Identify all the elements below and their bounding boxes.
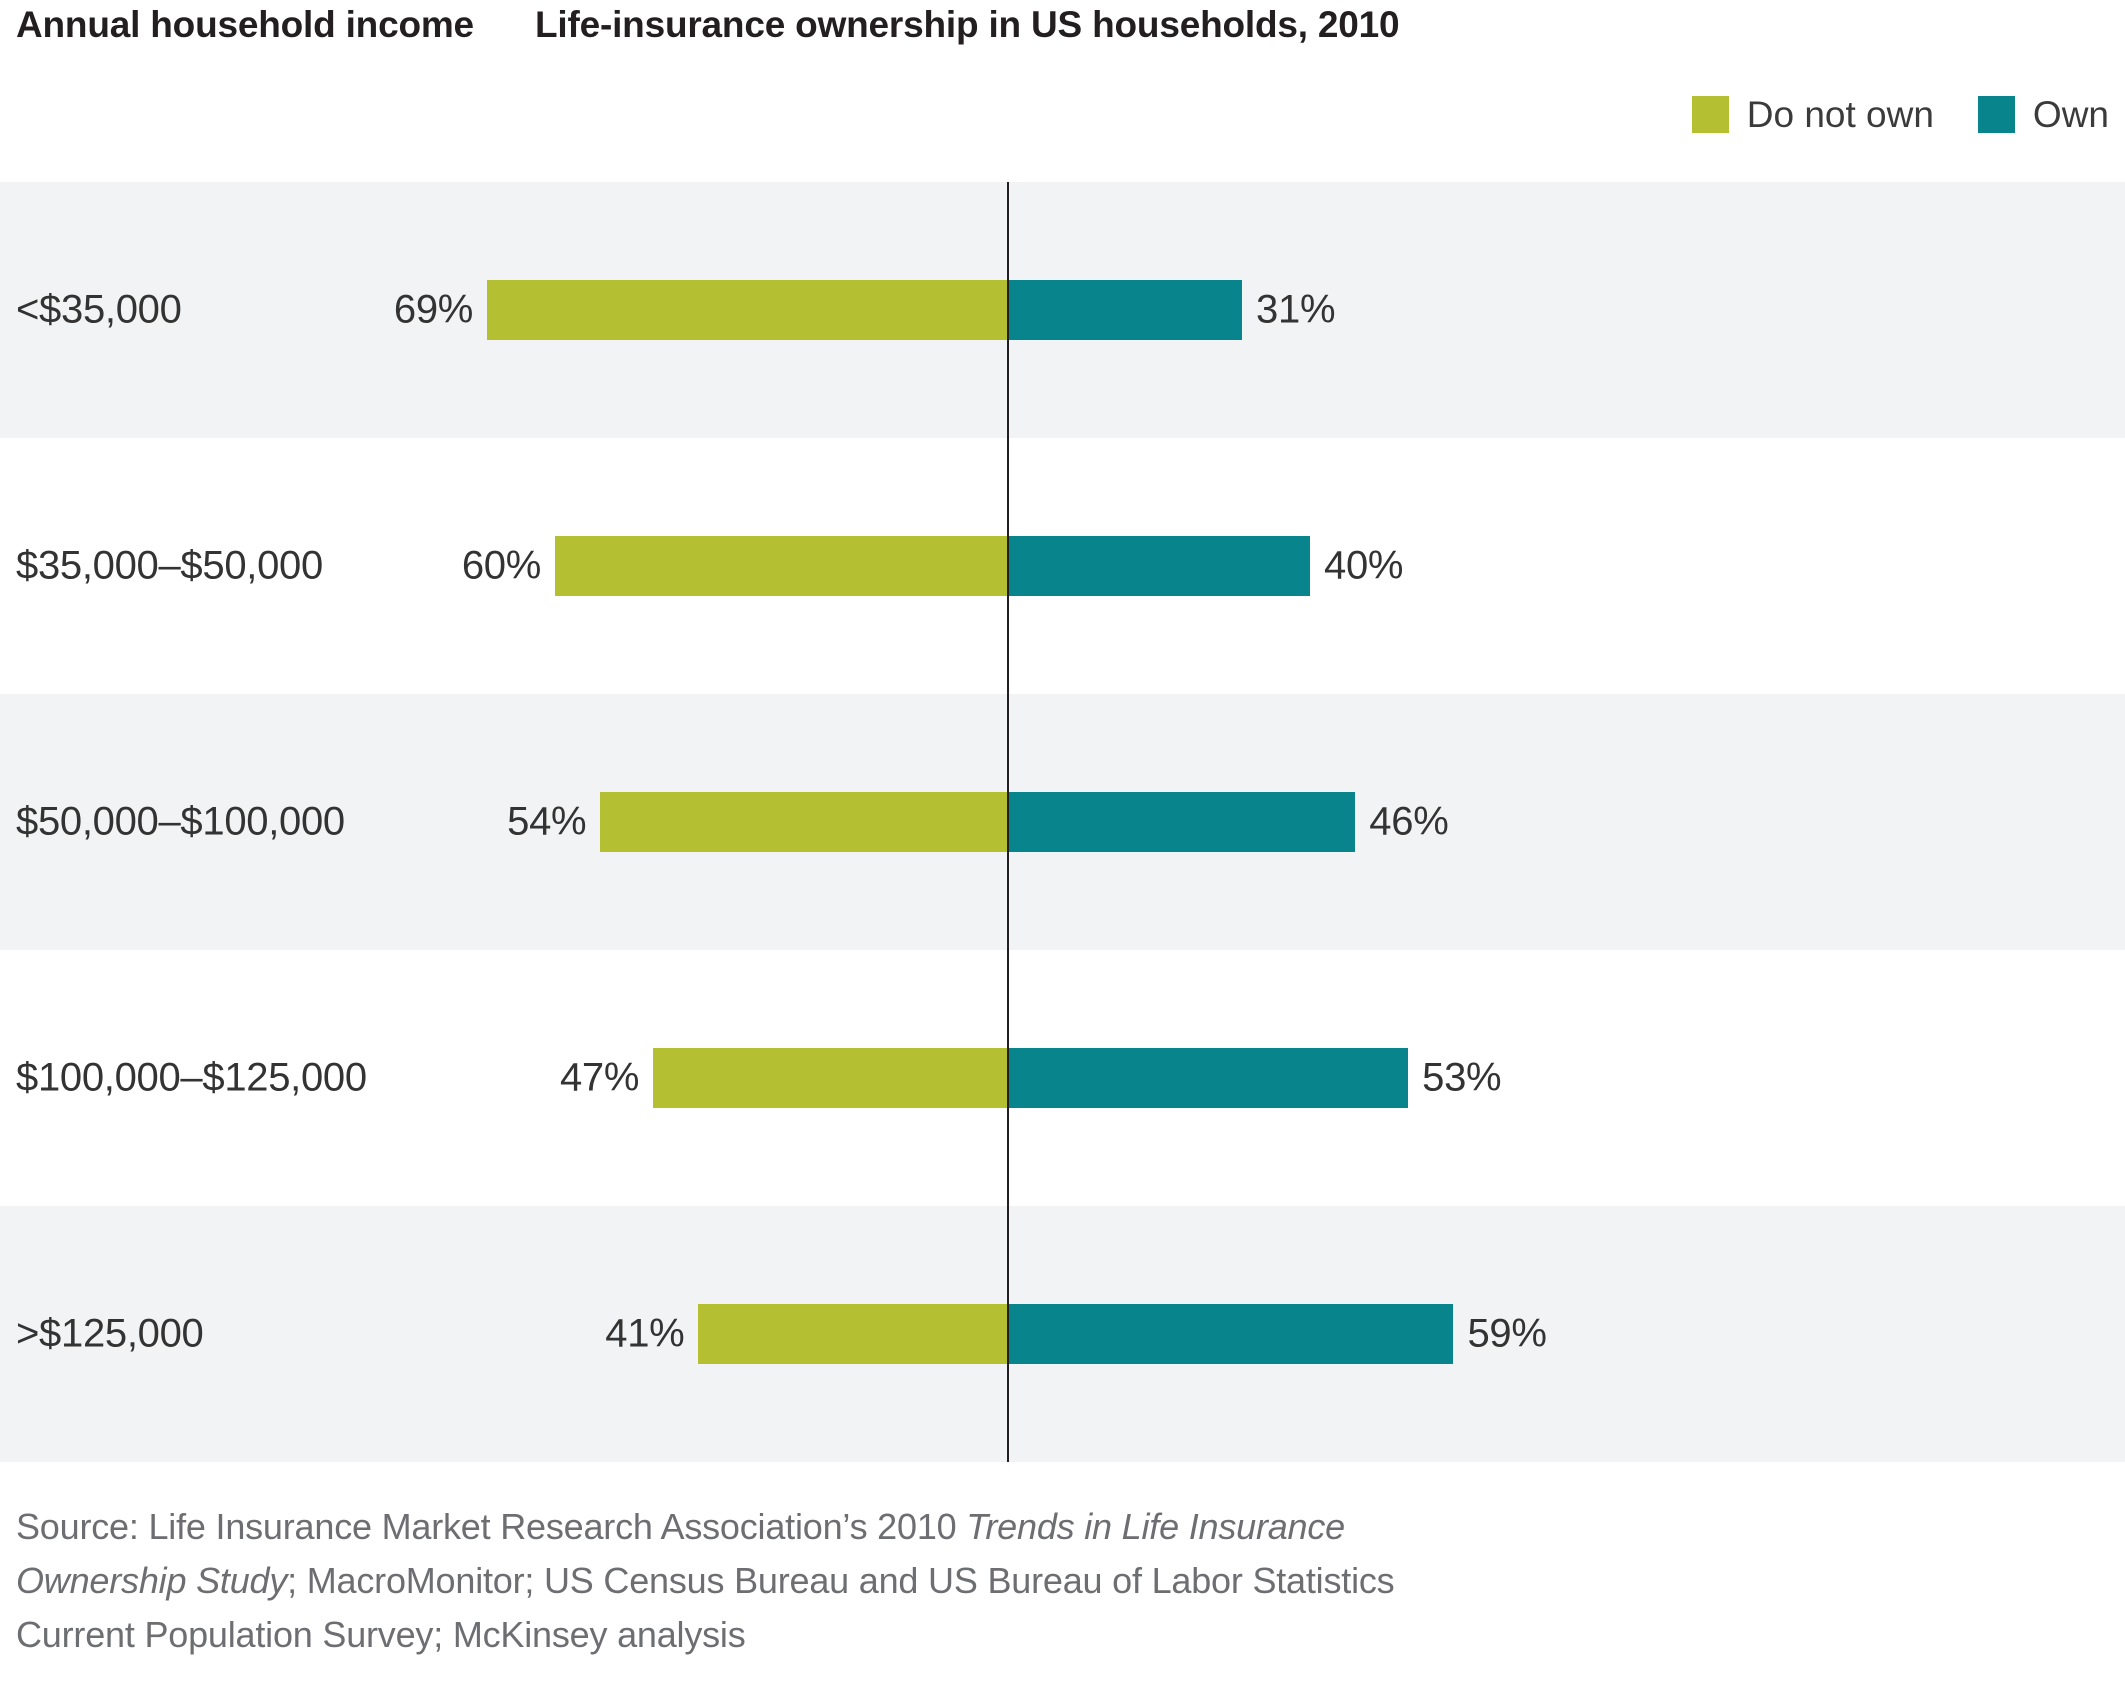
legend-item-label: Do not own — [1747, 96, 1934, 133]
footnote-line1-prefix: Source: Life Insurance Market Research A… — [16, 1506, 966, 1547]
bar-value-own: 46% — [1369, 800, 1448, 845]
bar-value-do-not-own: 54% — [507, 800, 586, 845]
footnote-line2-italic: Ownership Study — [16, 1560, 287, 1601]
chart-row: $50,000–$100,00054%46% — [0, 694, 2125, 950]
bar-value-own: 53% — [1422, 1056, 1501, 1101]
bar-own — [1008, 280, 1242, 340]
chart-header: Annual household income Life-insurance o… — [0, 0, 2125, 182]
bar-value-own: 59% — [1467, 1312, 1546, 1357]
chart-plot-area: <$35,00069%31%$35,000–$50,00060%40%$50,0… — [0, 182, 2125, 1462]
bar-value-do-not-own: 69% — [394, 288, 473, 333]
legend-item: Do not own — [1692, 96, 1934, 133]
chart-row: $35,000–$50,00060%40% — [0, 438, 2125, 694]
chart-legend: Do not ownOwn — [1692, 96, 2109, 133]
chart-page: Annual household income Life-insurance o… — [0, 0, 2125, 1682]
chart-title: Life-insurance ownership in US household… — [535, 2, 2095, 47]
footnote-line1-italic: Trends in Life Insurance — [966, 1506, 1345, 1547]
bar-own — [1008, 536, 1310, 596]
row-bar-area: 47%53% — [0, 1048, 2125, 1108]
bar-do-not-own — [555, 536, 1008, 596]
category-column-title: Annual household income — [16, 2, 496, 47]
row-bar-area: 41%59% — [0, 1304, 2125, 1364]
bar-value-do-not-own: 41% — [605, 1312, 684, 1357]
chart-row: $100,000–$125,00047%53% — [0, 950, 2125, 1206]
row-bar-area: 60%40% — [0, 536, 2125, 596]
row-bar-area: 69%31% — [0, 280, 2125, 340]
bar-do-not-own — [600, 792, 1008, 852]
legend-swatch-do-not-own — [1692, 96, 1729, 133]
footnote-line3: Current Population Survey; McKinsey anal… — [16, 1614, 746, 1655]
bar-value-own: 31% — [1256, 288, 1335, 333]
bar-do-not-own — [487, 280, 1008, 340]
bar-own — [1008, 1048, 1408, 1108]
chart-row: >$125,00041%59% — [0, 1206, 2125, 1462]
legend-swatch-own — [1978, 96, 2015, 133]
bar-value-own: 40% — [1324, 544, 1403, 589]
legend-item: Own — [1978, 96, 2109, 133]
chart-row: <$35,00069%31% — [0, 182, 2125, 438]
footnote-line2-rest: ; MacroMonitor; US Census Bureau and US … — [287, 1560, 1394, 1601]
bar-value-do-not-own: 60% — [462, 544, 541, 589]
legend-item-label: Own — [2033, 96, 2109, 133]
bar-do-not-own — [653, 1048, 1008, 1108]
bar-do-not-own — [698, 1304, 1008, 1364]
bar-own — [1008, 792, 1355, 852]
row-bar-area: 54%46% — [0, 792, 2125, 852]
bar-value-do-not-own: 47% — [560, 1056, 639, 1101]
bar-own — [1008, 1304, 1453, 1364]
source-footnote: Source: Life Insurance Market Research A… — [16, 1500, 2016, 1662]
